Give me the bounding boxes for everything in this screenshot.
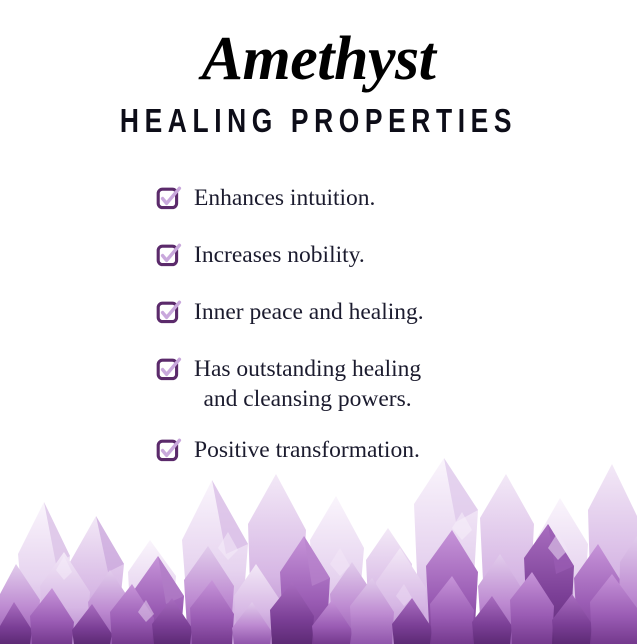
- list-item-label: Has outstanding healing and cleansing po…: [194, 353, 421, 414]
- poster-header: Amethyst HEALING PROPERTIES: [0, 0, 637, 137]
- list-item-label: Increases nobility.: [194, 239, 365, 270]
- list-item: Inner peace and healing.: [0, 296, 637, 327]
- checked-checkbox-icon: [156, 356, 182, 382]
- list-item-label: Enhances intuition.: [194, 182, 375, 213]
- list-item: Enhances intuition.: [0, 182, 637, 213]
- checked-checkbox-icon: [156, 242, 182, 268]
- poster-canvas: Amethyst HEALING PROPERTIES Enhances int…: [0, 0, 637, 644]
- checked-checkbox-icon: [156, 299, 182, 325]
- checked-checkbox-icon: [156, 185, 182, 211]
- list-item-label: Inner peace and healing.: [194, 296, 424, 327]
- page-title: Amethyst: [0, 28, 637, 90]
- list-item: Increases nobility.: [0, 239, 637, 270]
- list-item: Has outstanding healing and cleansing po…: [0, 353, 637, 414]
- page-subtitle: HEALING PROPERTIES: [64, 104, 574, 137]
- amethyst-crystal-cluster: [0, 444, 637, 644]
